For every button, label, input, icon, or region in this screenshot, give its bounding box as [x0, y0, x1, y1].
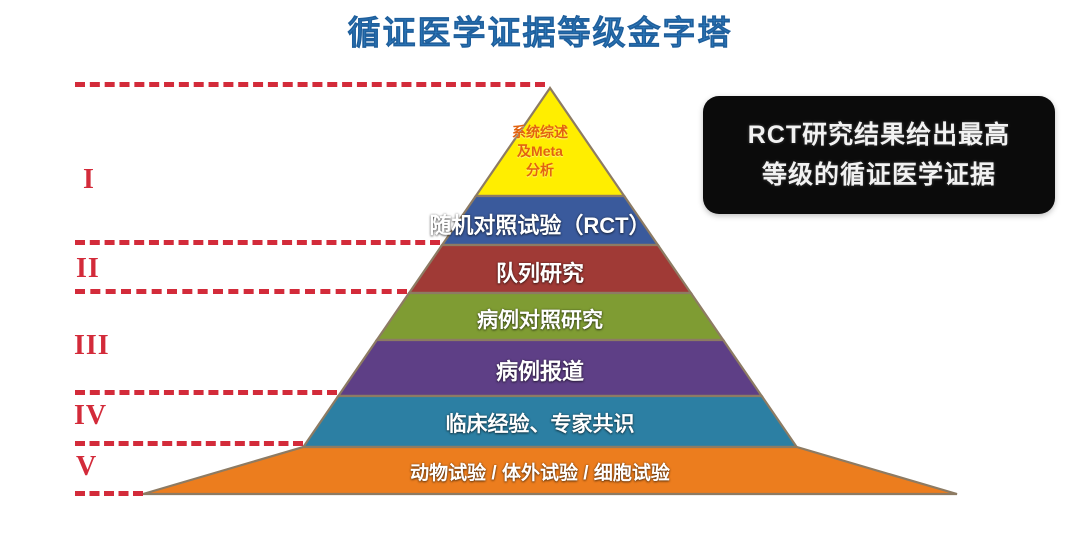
grade-divider-3 — [75, 390, 337, 395]
pyramid-level-3-shape — [409, 245, 691, 293]
grade-divider-2 — [75, 289, 407, 294]
rct-callout-line2: 等级的循证医学证据 — [762, 155, 996, 195]
grade-numeral-v: V — [76, 453, 97, 481]
pyramid-level-6-shape — [303, 396, 796, 447]
grade-numeral-iv: IV — [74, 402, 107, 430]
pyramid-level-2-shape — [442, 196, 658, 245]
pyramid-level-7-shape — [143, 447, 957, 494]
grade-numeral-i: I — [83, 166, 95, 194]
grade-divider-4 — [75, 441, 303, 446]
rct-callout-box: RCT研究结果给出最高 等级的循证医学证据 — [703, 96, 1055, 214]
rct-callout-line1: RCT研究结果给出最高 — [748, 115, 1010, 155]
pyramid-level-1-shape — [476, 88, 624, 196]
pyramid-level-4-shape — [377, 293, 723, 340]
grade-divider-1 — [75, 240, 440, 245]
pyramid-level-5-shape — [338, 340, 761, 396]
slide-canvas: 循证医学证据等级金字塔 系统综述 及Meta 分析 随机对照试验（RCT） 队列… — [0, 0, 1080, 544]
grade-divider-5 — [75, 491, 143, 496]
grade-numeral-iii: III — [74, 332, 110, 360]
grade-divider-top — [75, 82, 545, 87]
grade-numeral-ii: II — [76, 255, 100, 283]
